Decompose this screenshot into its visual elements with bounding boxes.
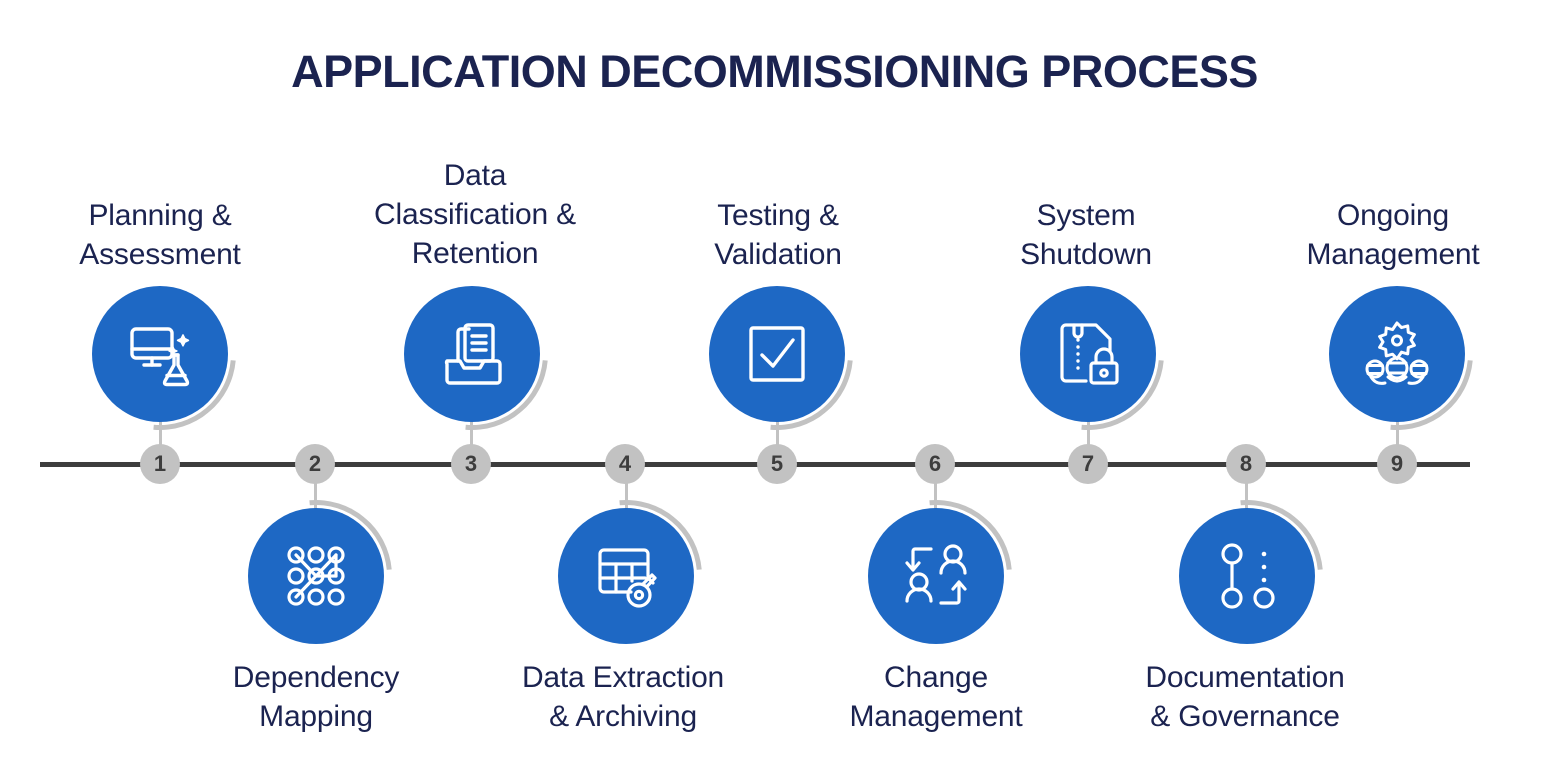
step-label-3-line2: Classification & <box>325 195 625 234</box>
step-label-6-line1: Change <box>786 658 1086 697</box>
step-label-6: Change Management <box>786 658 1086 736</box>
step-node-6[interactable]: 6 <box>915 444 955 484</box>
step-label-1: Planning & Assessment <box>10 196 310 274</box>
step-label-4-line1: Data Extraction <box>473 658 773 697</box>
step-label-9-line2: Management <box>1243 235 1543 274</box>
step-label-8-line1: Documentation <box>1095 658 1395 697</box>
step-node-1[interactable]: 1 <box>140 444 180 484</box>
step-label-4-line2: & Archiving <box>473 697 773 736</box>
step-label-9: Ongoing Management <box>1243 196 1543 274</box>
step-icon-wrap-2[interactable] <box>248 508 384 644</box>
step-label-2-line1: Dependency <box>166 658 466 697</box>
step-label-5-line1: Testing & <box>628 196 928 235</box>
step-label-5: Testing & Validation <box>628 196 928 274</box>
step-number-5: 5 <box>771 451 783 477</box>
step-label-2-line2: Mapping <box>166 697 466 736</box>
step-label-5-line2: Validation <box>628 235 928 274</box>
step-label-3: Data Classification & Retention <box>325 156 625 273</box>
step-node-8[interactable]: 8 <box>1226 444 1266 484</box>
step-node-3[interactable]: 3 <box>451 444 491 484</box>
step-node-5[interactable]: 5 <box>757 444 797 484</box>
step-label-6-line2: Management <box>786 697 1086 736</box>
step-icon-wrap-7[interactable] <box>1020 286 1156 422</box>
step-number-3: 3 <box>465 451 477 477</box>
table-key-icon[interactable] <box>558 508 694 644</box>
step-label-7-line2: Shutdown <box>936 235 1236 274</box>
page-title: APPLICATION DECOMMISSIONING PROCESS <box>0 46 1549 98</box>
step-icon-wrap-8[interactable] <box>1179 508 1315 644</box>
step-node-9[interactable]: 9 <box>1377 444 1417 484</box>
people-arrows-icon[interactable] <box>868 508 1004 644</box>
step-number-8: 8 <box>1240 451 1252 477</box>
step-icon-wrap-4[interactable] <box>558 508 694 644</box>
step-label-9-line1: Ongoing <box>1243 196 1543 235</box>
step-icon-wrap-9[interactable] <box>1329 286 1465 422</box>
step-icon-wrap-6[interactable] <box>868 508 1004 644</box>
node-link-icon[interactable] <box>1179 508 1315 644</box>
step-label-2: Dependency Mapping <box>166 658 466 736</box>
gear-team-icon[interactable] <box>1329 286 1465 422</box>
step-label-1-line1: Planning & <box>10 196 310 235</box>
step-label-4: Data Extraction & Archiving <box>473 658 773 736</box>
step-node-4[interactable]: 4 <box>605 444 645 484</box>
network-nodes-icon[interactable] <box>248 508 384 644</box>
document-tray-icon[interactable] <box>404 286 540 422</box>
step-number-7: 7 <box>1082 451 1094 477</box>
checkbox-check-icon[interactable] <box>709 286 845 422</box>
monitor-flask-icon[interactable] <box>92 286 228 422</box>
step-node-7[interactable]: 7 <box>1068 444 1108 484</box>
step-icon-wrap-5[interactable] <box>709 286 845 422</box>
step-number-2: 2 <box>309 451 321 477</box>
step-icon-wrap-1[interactable] <box>92 286 228 422</box>
step-node-2[interactable]: 2 <box>295 444 335 484</box>
step-number-6: 6 <box>929 451 941 477</box>
step-number-1: 1 <box>154 451 166 477</box>
step-icon-wrap-3[interactable] <box>404 286 540 422</box>
step-number-4: 4 <box>619 451 631 477</box>
step-label-7: System Shutdown <box>936 196 1236 274</box>
step-label-7-line1: System <box>936 196 1236 235</box>
infographic-root: APPLICATION DECOMMISSIONING PROCESS Plan… <box>0 0 1549 765</box>
step-label-8-line2: & Governance <box>1095 697 1395 736</box>
step-label-3-line1: Data <box>325 156 625 195</box>
step-label-1-line2: Assessment <box>10 235 310 274</box>
zip-lock-icon[interactable] <box>1020 286 1156 422</box>
step-label-3-line3: Retention <box>325 234 625 273</box>
step-label-8: Documentation & Governance <box>1095 658 1395 736</box>
step-number-9: 9 <box>1391 451 1403 477</box>
